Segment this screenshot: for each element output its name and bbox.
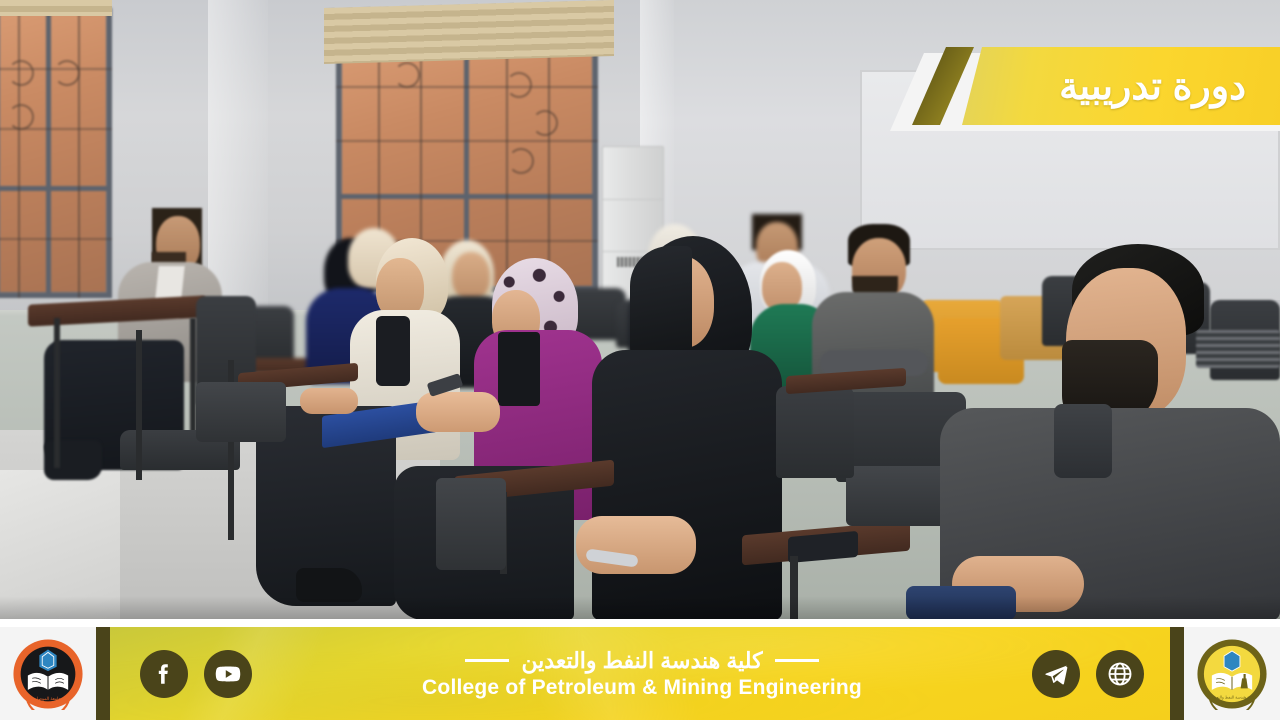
person-hands [416,392,500,432]
poster-canvas: دورة تدريبية جامعة الموصل [0,0,1280,720]
facebook-icon[interactable] [140,650,188,698]
window-blind-left [0,0,112,16]
university-seal-left-container: جامعة الموصل [0,627,96,720]
training-course-ribbon-badge: دورة تدريبية [890,47,1280,131]
person-hands [576,516,696,574]
radiator-grille [1196,330,1280,368]
person-inner-top [376,316,410,386]
person-hand [300,388,358,414]
college-name-english: College of Petroleum & Mining Engineerin… [422,676,862,700]
college-name-arabic-row: كلية هندسة النفط والتعدين [465,648,818,674]
website-globe-icon[interactable] [1096,650,1144,698]
telegram-icon[interactable] [1032,650,1080,698]
footer-banner: جامعة الموصل [0,627,1280,720]
svg-text:جامعة الموصل: جامعة الموصل [35,695,61,700]
desk-leg [54,318,60,468]
dash-left [775,659,819,662]
window-blind-center [324,0,614,64]
person-coat [592,350,782,619]
college-name-block: كلية هندسة النفط والتعدين College of Pet… [252,648,1032,700]
university-of-mosul-seal: جامعة الموصل [12,638,84,710]
social-links-left [140,650,252,698]
social-links-right [1032,650,1144,698]
chair-seat [196,382,286,442]
photo-banner-gap [0,619,1280,627]
svg-text:كلية هندسة النفط والتعدين: كلية هندسة النفط والتعدين [1210,694,1253,699]
ribbon-label: دورة تدريبية [1059,47,1246,125]
person-collar [1054,404,1112,478]
photo-bottom-shade [0,596,1280,619]
college-name-arabic: كلية هندسة النفط والتعدين [521,648,762,674]
chair-seat [436,478,506,570]
college-seal-right-container: كلية هندسة النفط والتعدين [1184,627,1280,720]
desk-leg [136,330,142,480]
person-shoe [44,440,102,480]
dash-right [465,659,509,662]
banner-divider-right [1170,627,1184,720]
youtube-icon[interactable] [204,650,252,698]
chair [776,386,854,478]
banner-yellow-band: كلية هندسة النفط والتعدين College of Pet… [110,627,1170,720]
person-inner-top [498,332,540,406]
banner-divider-left [96,627,110,720]
college-of-petroleum-and-mining-seal: كلية هندسة النفط والتعدين [1196,638,1268,710]
window-left [0,8,112,298]
person-head [452,252,490,300]
